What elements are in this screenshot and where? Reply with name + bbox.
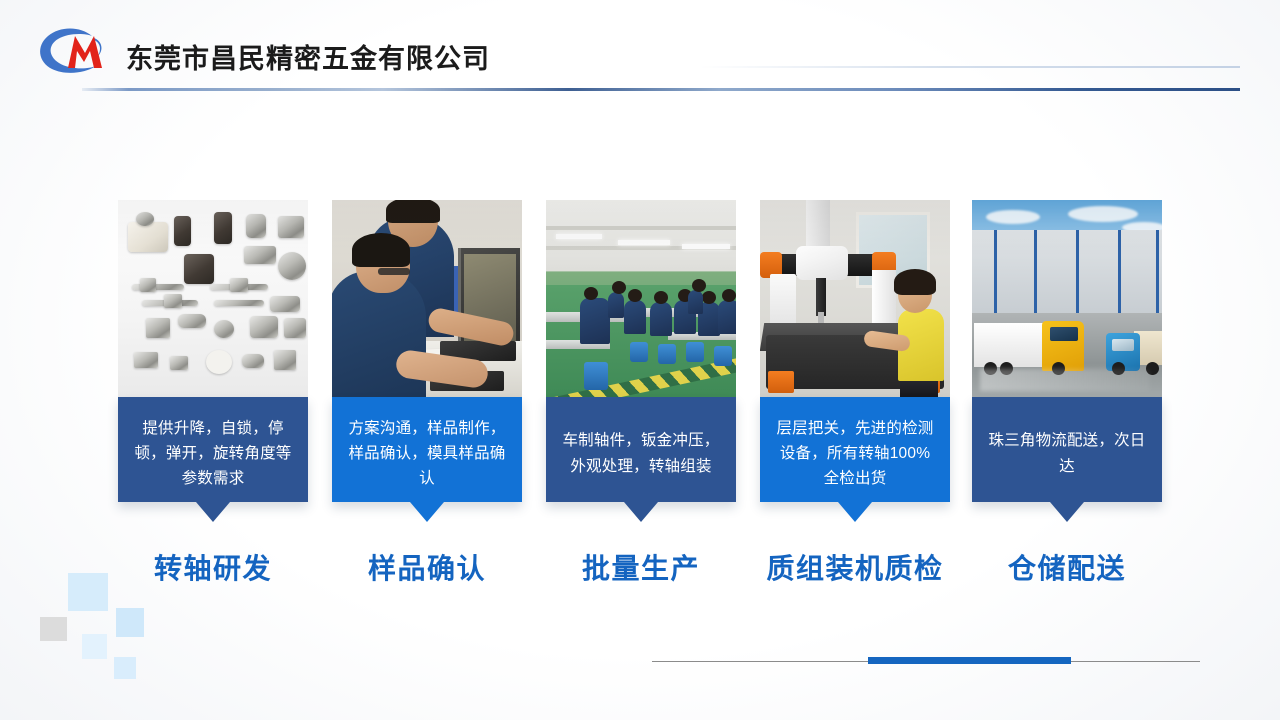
flow-step-2-description: 方案沟通，样品制作，样品确认，模具样品确认 xyxy=(346,416,508,491)
metal-hinge-parts-photo xyxy=(118,200,308,397)
flow-step-5-arrow-icon xyxy=(1050,502,1084,522)
company-name: 东莞市昌民精密五金有限公司 xyxy=(126,37,490,76)
flow-step-1-description: 提供升降，自锁，停顿，弹开，旋转角度等参数需求 xyxy=(132,416,294,491)
flow-step-4-description: 层层把关，先进的检测设备，所有转轴100%全检出货 xyxy=(774,416,936,491)
flow-step-4[interactable]: 层层把关，先进的检测设备，所有转轴100%全检出货 xyxy=(760,200,950,502)
flow-step-1-arrow-icon xyxy=(196,502,230,522)
page-header: 东莞市昌民精密五金有限公司 xyxy=(0,0,1280,100)
flow-step-3-label: 批量生产 xyxy=(526,547,756,587)
flow-step-1-label: 转轴研发 xyxy=(98,547,328,587)
flow-step-3-arrow-icon xyxy=(624,502,658,522)
warehouse-trucks-photo xyxy=(972,200,1162,397)
flow-step-1[interactable]: 提供升降，自锁，停顿，弹开，旋转角度等参数需求 xyxy=(118,200,308,502)
process-flow: 提供升降，自锁，停顿，弹开，旋转角度等参数需求 xyxy=(0,200,1280,520)
flow-step-5-description: 珠三角物流配送，次日达 xyxy=(986,428,1148,478)
assembly-line-workers-photo xyxy=(546,200,736,397)
flow-step-4-label: 质组装机质检 xyxy=(740,547,970,587)
company-logo-icon xyxy=(34,22,120,80)
flow-step-2[interactable]: 方案沟通，样品制作，样品确认，模具样品确认 xyxy=(332,200,522,502)
flow-step-2-body: 方案沟通，样品制作，样品确认，模具样品确认 xyxy=(332,397,522,502)
flow-step-3[interactable]: 车制轴件，钣金冲压，外观处理，转轴组装 xyxy=(546,200,736,502)
flow-step-5[interactable]: 珠三角物流配送，次日达 xyxy=(972,200,1162,502)
cmm-inspection-machine-photo xyxy=(760,200,950,397)
flow-step-2-label: 样品确认 xyxy=(312,547,542,587)
flow-step-1-body: 提供升降，自锁，停顿，弹开，旋转角度等参数需求 xyxy=(118,397,308,502)
header-divider xyxy=(82,88,1240,91)
bottom-divider-accent xyxy=(868,657,1071,664)
flow-step-4-body: 层层把关，先进的检测设备，所有转轴100%全检出货 xyxy=(760,397,950,502)
flow-step-4-arrow-icon xyxy=(838,502,872,522)
flow-step-5-label: 仓储配送 xyxy=(952,547,1182,587)
flow-step-2-arrow-icon xyxy=(410,502,444,522)
flow-step-5-body: 珠三角物流配送，次日达 xyxy=(972,397,1162,502)
flow-step-3-description: 车制轴件，钣金冲压，外观处理，转轴组装 xyxy=(560,428,722,478)
engineers-at-computer-photo xyxy=(332,200,522,397)
flow-step-3-body: 车制轴件，钣金冲压，外观处理，转轴组装 xyxy=(546,397,736,502)
header-soft-rule xyxy=(700,66,1240,68)
